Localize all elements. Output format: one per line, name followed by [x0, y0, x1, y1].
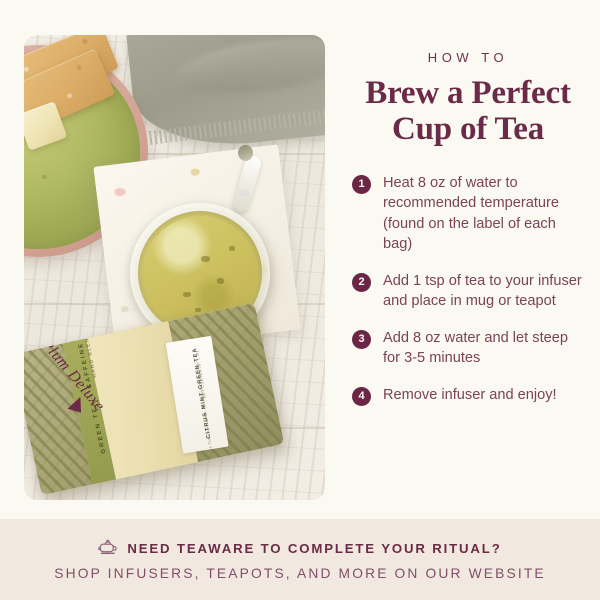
step-text: Heat 8 oz of water to recommended temper… — [383, 173, 584, 254]
title-line-1: Brew a Perfect — [352, 76, 584, 112]
terrazzo-fleck — [114, 187, 126, 196]
tea-leaf-fleck — [201, 256, 210, 262]
cup-handle-tip — [238, 145, 253, 161]
footer-secondary-line: SHOP INFUSERS, TEAPOTS, AND MORE ON OUR … — [54, 566, 546, 581]
list-item: 4 Remove infuser and enjoy! — [352, 385, 584, 406]
page-title: Brew a Perfect Cup of Tea — [352, 76, 584, 147]
step-number-badge: 2 — [352, 273, 371, 292]
footer-primary-line: NEED TEAWARE TO COMPLETE YOUR RITUAL? — [98, 539, 501, 559]
step-text: Add 1 tsp of tea to your infuser and pla… — [383, 271, 584, 311]
crumb — [42, 175, 47, 179]
tea-leaf-fleck — [195, 308, 201, 312]
title-line-2: Cup of Tea — [352, 112, 584, 148]
terrazzo-fleck — [121, 306, 130, 313]
step-text: Add 8 oz water and let steep for 3-5 min… — [383, 328, 584, 368]
instructions-panel: HOW TO Brew a Perfect Cup of Tea 1 Heat … — [352, 0, 584, 423]
teapot-icon — [98, 539, 118, 559]
footer-banner: NEED TEAWARE TO COMPLETE YOUR RITUAL? SH… — [0, 519, 600, 600]
infographic-card: GREEN TEA • CAFFEINE GREEN TEA HAND BLEN… — [0, 0, 600, 600]
tea-photo: GREEN TEA • CAFFEINE GREEN TEA HAND BLEN… — [24, 35, 325, 500]
step-number-badge: 1 — [352, 175, 371, 194]
tea-leaf-fleck — [229, 246, 235, 251]
list-item: 2 Add 1 tsp of tea to your infuser and p… — [352, 271, 584, 311]
tea-leaf-fleck — [183, 292, 191, 297]
terrazzo-fleck — [190, 168, 200, 176]
list-item: 3 Add 8 oz water and let steep for 3-5 m… — [352, 328, 584, 368]
kicker-text: HOW TO — [352, 50, 584, 65]
step-number-badge: 4 — [352, 387, 371, 406]
steps-list: 1 Heat 8 oz of water to recommended temp… — [352, 173, 584, 406]
step-text: Remove infuser and enjoy! — [383, 385, 557, 405]
footer-line1-text: NEED TEAWARE TO COMPLETE YOUR RITUAL? — [127, 541, 501, 556]
tea-leaf-fleck — [217, 278, 224, 284]
step-number-badge: 3 — [352, 330, 371, 349]
list-item: 1 Heat 8 oz of water to recommended temp… — [352, 173, 584, 254]
